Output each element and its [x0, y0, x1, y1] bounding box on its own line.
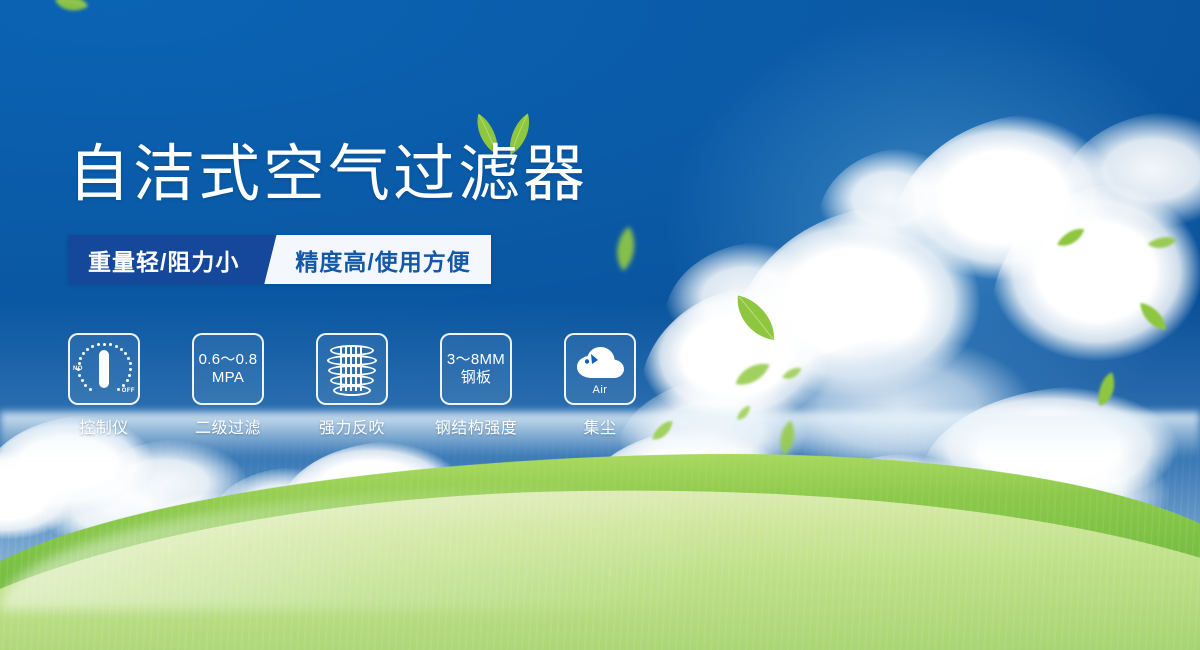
steel-thickness-text-icon: 3～8MM	[447, 351, 505, 369]
feature-icon-box: 3～8MM 钢板	[440, 333, 512, 405]
feature-item-controller[interactable]: NO OFF 控制仪	[68, 333, 140, 438]
feature-list: NO OFF 控制仪 0.6～0.8 MPA 二级过滤	[68, 333, 636, 438]
feature-item-filter[interactable]: 0.6～0.8 MPA 二级过滤	[192, 333, 264, 438]
gauge-label-off: OFF	[122, 388, 135, 394]
gauge-label-no: NO	[73, 366, 83, 372]
air-cloud-icon: Air	[572, 344, 628, 394]
gauge-needle	[99, 350, 109, 388]
feature-caption: 强力反吹	[319, 414, 385, 438]
feature-caption: 集尘	[583, 414, 616, 438]
feature-item-steel[interactable]: 3～8MM 钢板 钢结构强度	[440, 333, 512, 438]
feature-caption: 控制仪	[79, 414, 129, 438]
feature-icon-box: Air	[564, 333, 636, 405]
pressure-text-icon: 0.6～0.8	[199, 351, 258, 369]
air-label: Air	[572, 384, 628, 396]
feature-caption: 二级过滤	[195, 414, 261, 438]
page-title: 自洁式空气过滤器	[68, 143, 588, 205]
subtitle-divider	[255, 235, 289, 284]
subtitle-bar: 重量轻/阻力小 精度高/使用方便	[68, 235, 491, 284]
pressure-unit-text: MPA	[212, 369, 244, 387]
feature-icon-box	[316, 333, 388, 405]
steel-plate-text: 钢板	[461, 369, 492, 387]
subtitle-left: 重量轻/阻力小	[68, 235, 255, 284]
airflow-stack-icon	[326, 343, 378, 395]
banner-content: 自洁式空气过滤器 重量轻/阻力小 精度高/使用方便	[0, 0, 1200, 650]
cloud-shape-icon	[572, 344, 628, 384]
feature-item-dust[interactable]: Air 集尘	[564, 333, 636, 438]
feature-item-blowback[interactable]: 强力反吹	[316, 333, 388, 438]
feature-icon-box: NO OFF	[68, 333, 140, 405]
gauge-icon: NO OFF	[74, 341, 134, 397]
subtitle-right: 精度高/使用方便	[289, 235, 490, 284]
feature-icon-box: 0.6～0.8 MPA	[192, 333, 264, 405]
feature-caption: 钢结构强度	[435, 414, 518, 438]
product-banner: 自洁式空气过滤器 重量轻/阻力小 精度高/使用方便	[0, 0, 1200, 650]
